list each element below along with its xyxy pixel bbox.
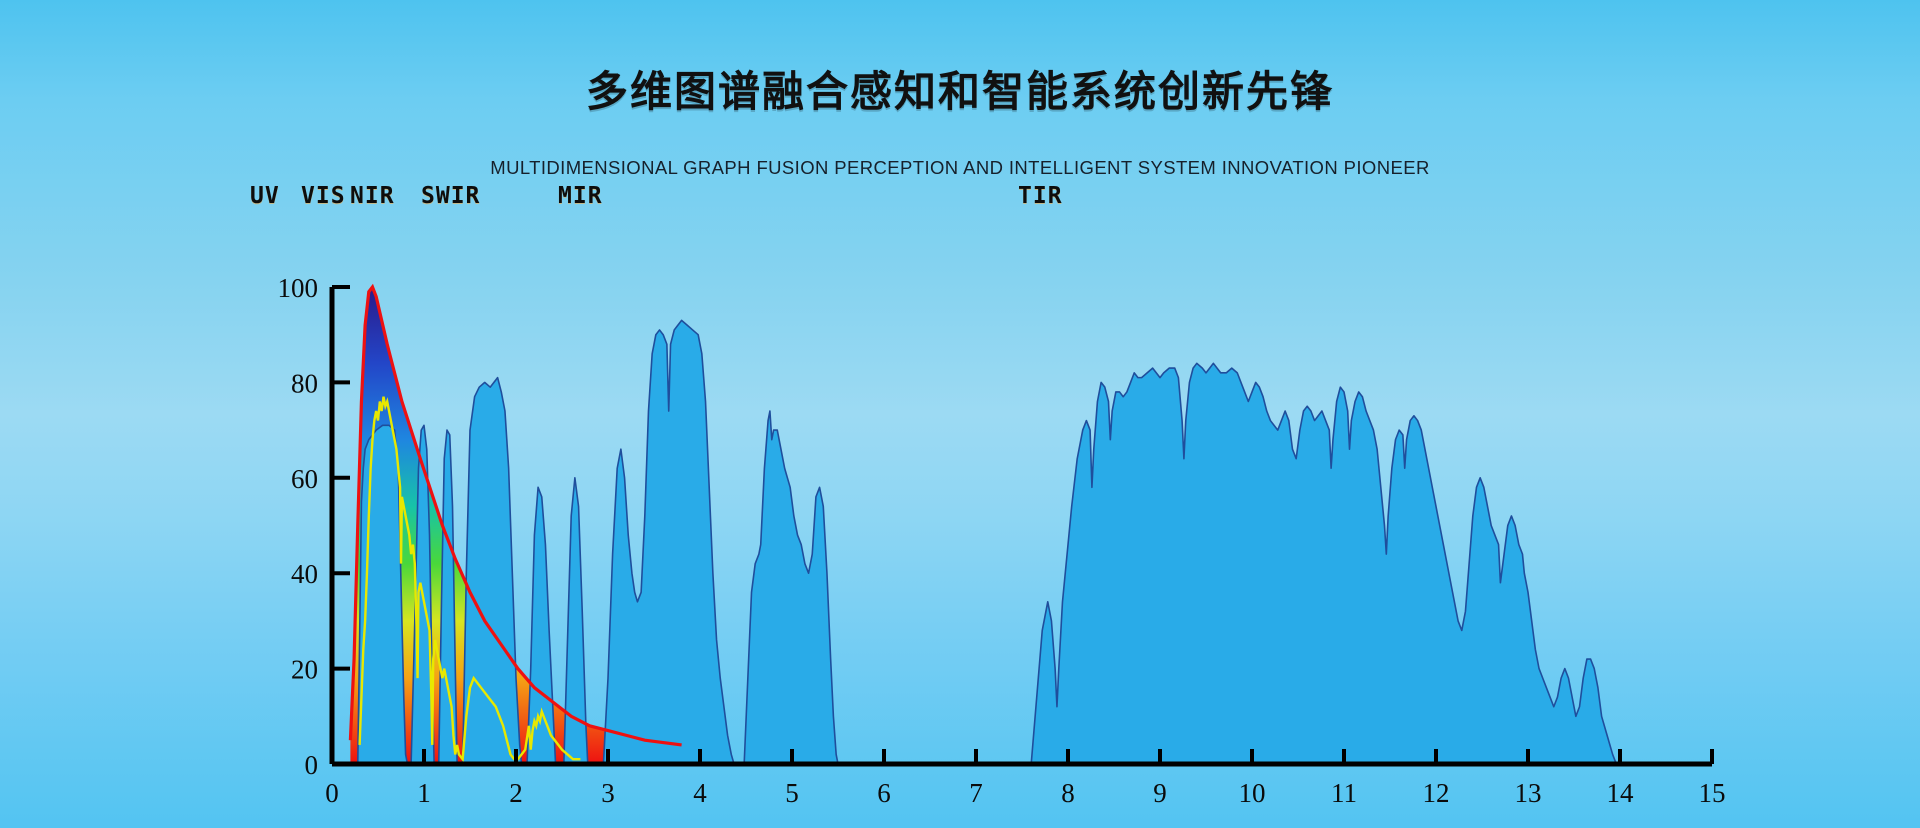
y-tick-label: 100 bbox=[278, 273, 319, 303]
transmission-band bbox=[564, 478, 588, 764]
y-tick-label: 80 bbox=[291, 368, 318, 398]
x-tick-label: 7 bbox=[969, 778, 983, 808]
x-tick-label: 3 bbox=[601, 778, 615, 808]
x-tick-label: 14 bbox=[1607, 778, 1635, 808]
x-tick-label: 1 bbox=[417, 778, 431, 808]
spectral-chart: 0123456789101112131415020406080100 bbox=[0, 0, 1920, 828]
transmission-band bbox=[463, 378, 522, 764]
x-tick-label: 6 bbox=[877, 778, 891, 808]
x-tick-label: 8 bbox=[1061, 778, 1075, 808]
x-tick-label: 5 bbox=[785, 778, 799, 808]
y-tick-label: 60 bbox=[291, 464, 318, 494]
y-tick-label: 20 bbox=[291, 655, 318, 685]
x-tick-label: 11 bbox=[1331, 778, 1357, 808]
x-tick-label: 0 bbox=[325, 778, 339, 808]
transmission-band bbox=[527, 487, 556, 764]
transmission-band bbox=[1031, 363, 1616, 764]
x-tick-label: 15 bbox=[1699, 778, 1726, 808]
x-tick-label: 13 bbox=[1515, 778, 1542, 808]
x-tick-label: 10 bbox=[1239, 778, 1266, 808]
x-tick-label: 9 bbox=[1153, 778, 1167, 808]
transmission-band bbox=[744, 411, 838, 764]
transmission-band bbox=[603, 320, 734, 764]
x-tick-label: 2 bbox=[509, 778, 523, 808]
y-tick-label: 0 bbox=[305, 750, 319, 780]
y-tick-label: 40 bbox=[291, 559, 318, 589]
transmission-band bbox=[439, 430, 457, 764]
poster-root: 多维图谱融合感知和智能系统创新先锋 MULTIDIMENSIONAL GRAPH… bbox=[0, 0, 1920, 828]
x-tick-label: 4 bbox=[693, 778, 707, 808]
x-tick-label: 12 bbox=[1423, 778, 1450, 808]
